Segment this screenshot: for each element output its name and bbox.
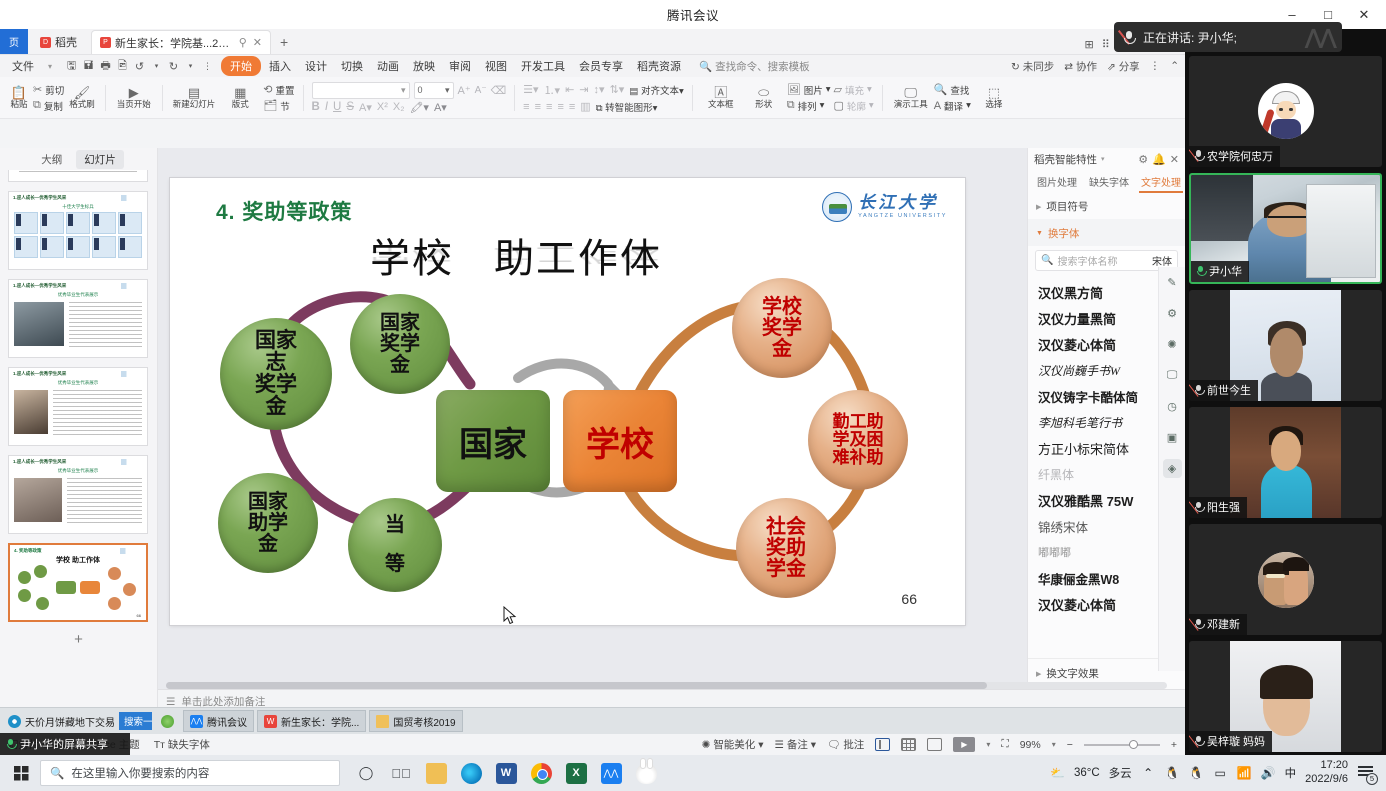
meeting-close-button[interactable]: ✕ (1346, 0, 1382, 29)
diagram-node-orange-3[interactable]: 社会 奖助 学金 (736, 498, 836, 598)
add-slide-button[interactable]: + (8, 631, 149, 648)
participant-tile[interactable]: 吴梓璇 妈妈 (1189, 641, 1382, 752)
play-circle-icon: ▶ (129, 86, 139, 99)
subscript-icon[interactable]: X₂ (393, 101, 405, 113)
screen-share-banner: 尹小华的屏幕共享 (0, 733, 130, 755)
logo-icon (120, 548, 142, 554)
missing-font-label[interactable]: Tᴛ 缺失字体 (154, 737, 210, 752)
section-bullets[interactable]: ▶ 项目符号 (1028, 192, 1185, 219)
italic-button[interactable]: I (325, 101, 328, 113)
menu-animation[interactable]: 动画 (371, 56, 405, 76)
chevron-down-icon[interactable]: ▾ (150, 62, 163, 70)
meeting-title: 腾讯会议 (667, 5, 719, 24)
redo-icon[interactable]: ↻ (167, 60, 180, 73)
logo-icon (121, 195, 143, 201)
close-icon[interactable]: ✕ (1170, 153, 1179, 166)
qq-icon[interactable]: 🐧 (1165, 766, 1180, 781)
shared-screen-taskbar[interactable]: 天价月饼藏地下交易 搜索一下 ⋀⋀ 腾讯会议 W 新生家长：学院... 国贸考核… (0, 707, 1185, 734)
format-painter-button[interactable]: 🖌 格式刷 (67, 86, 97, 109)
participant-tile[interactable]: 前世今生 (1189, 290, 1382, 401)
search-icon: 🔍 (50, 766, 64, 780)
menu-review[interactable]: 审阅 (443, 56, 477, 76)
chevron-down-icon: ▼ (1036, 230, 1043, 237)
clock-icon[interactable]: ◷ (1163, 397, 1182, 416)
fit-to-window-icon[interactable]: ⛶ (1001, 738, 1008, 751)
font-size-input[interactable]: 0▾ (414, 82, 454, 99)
right-icon-strip[interactable]: ✎ ⚙ ✺ 🖵 ◷ ▣ ◈ (1158, 267, 1185, 671)
menu-view[interactable]: 视图 (479, 56, 513, 76)
format-painter-icon: 🖌 (74, 86, 91, 99)
badge-icon[interactable]: ▣ (1163, 428, 1182, 447)
avatar (1258, 83, 1314, 139)
play-slideshow-button[interactable]: ▶ (953, 737, 975, 752)
search-chip[interactable]: 搜索一下 (119, 712, 152, 730)
strikethrough-button[interactable]: S (346, 101, 354, 113)
ribbon-group-font: ▾ 0▾ A⁺ A⁻ ⌫ B I U S A▾ X² X₂ 🖍▾ (308, 78, 511, 118)
shape-button[interactable]: ⬭ 形状 (744, 86, 784, 109)
chevron-down-icon[interactable]: ▾ (42, 60, 58, 73)
folder-icon (376, 715, 389, 728)
clock-date: 2022/9/6 (1305, 773, 1348, 787)
layout-button[interactable]: ▦ 版式 (220, 86, 260, 109)
image-icon: 🖼 (787, 83, 801, 96)
participant-name-badge: 阳生强 (1189, 497, 1247, 518)
line-spacing-icon[interactable]: ↕▾ (594, 83, 605, 96)
justify-icon[interactable]: ≡ (557, 101, 563, 113)
wps-ribbon: 📋 粘贴 ✂剪切 ⧉复制 🖌 格式刷 ▶ 当页开始 (0, 77, 1185, 119)
textbox-button[interactable]: 🄰 文本框 (701, 86, 741, 109)
smart-graphic-button[interactable]: ⧉ 转智能图形▾ (596, 100, 658, 114)
docer-icon: D (40, 37, 51, 48)
participant-name: 邓建新 (1207, 616, 1240, 632)
wps-home-tab[interactable]: 页 (0, 29, 28, 54)
thumbnail-slide-selected[interactable]: 4. 奖助等政策 学校 助工作体 66 (8, 543, 148, 622)
seal-icon (822, 192, 852, 222)
select-button[interactable]: ⬚ 选择 (974, 86, 1014, 109)
speaking-toast: 正在讲话: 尹小华; ⋀⋀ (1114, 22, 1342, 52)
participant-tile[interactable]: 农学院何忠万 (1189, 56, 1382, 167)
chevron-down-icon[interactable]: ▾ (1052, 740, 1056, 749)
tab-outline[interactable]: 大纲 (33, 150, 70, 169)
task-pane-header: 稻壳智能特性 ▾ ⚙ 🔔 ✕ (1028, 148, 1185, 170)
chrome-icon[interactable] (525, 758, 557, 788)
present-tools-icon: 🖵 (904, 86, 917, 99)
share-button[interactable]: ⇗ 分享 (1107, 59, 1140, 74)
heading-right: 助工作体 (494, 237, 662, 281)
menu-insert[interactable]: 插入 (263, 56, 297, 76)
taskbar-item-label: 新生家长：学院... (281, 714, 359, 729)
slide-title: 4. 奖助等政策 (216, 196, 352, 226)
undo-icon[interactable]: ↺ (133, 60, 146, 73)
layout-icon: ▦ (234, 86, 246, 99)
rabbit-icon[interactable] (630, 758, 662, 788)
mic-on-icon (1195, 265, 1206, 278)
slide-thumbnail-pane[interactable]: 大纲 幻灯片 1.迎人成长—优秀学生风采 十佳大学生标兵 (0, 148, 158, 713)
mic-muted-icon (1122, 30, 1136, 44)
chevron-up-icon[interactable]: ⌃ (1141, 766, 1156, 781)
participant-name-badge: 邓建新 (1189, 614, 1247, 635)
normal-view-icon[interactable] (875, 738, 890, 751)
meeting-icon: ⋀⋀ (190, 715, 203, 728)
notes-icon: ☰ (166, 696, 175, 708)
ie-icon (8, 715, 21, 728)
excel-icon[interactable]: X (560, 758, 592, 788)
cortana-icon[interactable]: ◯ (350, 758, 382, 788)
fill-button[interactable]: ▱填充▾ (834, 83, 874, 97)
increase-indent-icon[interactable]: ⇥ (579, 83, 588, 96)
volume-icon[interactable]: 🔊 (1261, 766, 1276, 781)
new-tab-button[interactable]: + (271, 30, 297, 54)
horizontal-scrollbar[interactable] (166, 682, 1167, 689)
slide-heading: 学校助工作体 (370, 226, 662, 284)
logo-icon (121, 459, 143, 465)
system-tray: ⛅ 36°C 多云 ⌃ 🐧 🐧 ▭ 📶 🔊 中 17:20 2022/9/6 5 (1050, 759, 1380, 787)
zoom-slider[interactable] (1084, 744, 1160, 746)
sliders-icon[interactable]: ⚙ (1163, 304, 1182, 323)
participant-tile[interactable]: 邓建新 (1189, 524, 1382, 635)
decrease-indent-icon[interactable]: ⇤ (565, 83, 574, 96)
ribbon-group-clipboard: 📋 粘贴 ✂剪切 ⧉复制 🖌 格式刷 (4, 78, 101, 118)
font-format-row: B I U S A▾ X² X₂ 🖍▾ A▾ (312, 101, 507, 114)
command-search-placeholder: 查找命令、搜索模板 (715, 59, 810, 74)
search-placeholder: 在这里输入你要搜索的内容 (71, 765, 209, 781)
save-icon[interactable]: 🖫 (65, 57, 78, 76)
customize-qat-icon[interactable]: ⋮ (201, 61, 214, 72)
weather-icon[interactable]: ⛅ (1050, 766, 1065, 781)
section-change-font[interactable]: ▼ 换字体 (1028, 219, 1185, 246)
start-icon[interactable] (6, 758, 36, 788)
diagram-node-green-2[interactable]: 国家 奖学 金 (350, 294, 450, 394)
logo-icon (121, 283, 143, 289)
search-icon: 🔍 (1041, 255, 1053, 266)
wps-tab-presentation[interactable]: P 新生家长：学院基...20220905 ⚲ ✕ (91, 30, 271, 54)
paste-button[interactable]: 📋 粘贴 (8, 86, 30, 109)
arrange-button[interactable]: ⧉排列▾ (787, 99, 831, 113)
thumbnail-tabs: 大纲 幻灯片 (0, 148, 157, 170)
shape-icon: ⬭ (758, 86, 769, 99)
section-label: 换字体 (1048, 226, 1080, 241)
chevron-down-icon[interactable]: ▾ (184, 62, 197, 70)
shield-icon[interactable]: ◈ (1163, 459, 1182, 478)
more-icon[interactable]: ⋮ (1150, 60, 1161, 72)
participant-name: 阳生强 (1207, 499, 1240, 515)
reset-button[interactable]: ⟲重置 (263, 83, 294, 97)
task-pane-title: 稻壳智能特性 (1034, 152, 1097, 167)
participant-name-badge: 吴梓璇 妈妈 (1189, 731, 1272, 752)
menu-file[interactable]: 文件 (6, 56, 40, 76)
notification-center-icon[interactable]: 5 (1357, 764, 1376, 783)
taskbar-item-wps[interactable]: W 新生家长：学院... (257, 710, 366, 732)
university-logo: 长江大学 YANGTZE UNIVERSITY (822, 192, 947, 222)
weather-desc: 多云 (1109, 765, 1132, 781)
qq-pink-icon[interactable]: 🐧 (1189, 766, 1204, 781)
menu-slideshow[interactable]: 放映 (407, 56, 441, 76)
participant-rail[interactable]: 农学院何忠万 尹小华 前世今生 (1185, 29, 1386, 755)
outline-icon: ▢ (834, 99, 844, 112)
quick-access-toolbar[interactable]: 🖫 🖬 🖶 🖻 ↺ ▾ ↻ ▾ ⋮ (60, 57, 219, 76)
align-row: ≡ ≡ ≡ ≡ ≡ ▥ ⧉ 转智能图形▾ (523, 100, 684, 114)
cut-button[interactable]: ✂剪切 (33, 83, 64, 97)
participant-tile[interactable]: 阳生强 (1189, 407, 1382, 518)
diagram-node-green-3[interactable]: 国家 助学 金 (218, 473, 318, 573)
print-icon[interactable]: 🖶 (99, 57, 112, 76)
beautify-button[interactable]: ✺ 智能美化 ▾ (702, 737, 764, 752)
font-name-input[interactable]: ▾ (312, 82, 410, 99)
participant-name: 吴梓璇 妈妈 (1207, 733, 1265, 749)
slide-page-number: 66 (901, 591, 917, 607)
task-view-icon[interactable]: ❑⃒ (385, 758, 417, 788)
edge-icon[interactable] (455, 758, 487, 788)
participant-tile-active[interactable]: 尹小华 (1189, 173, 1382, 284)
taskbar-item-label: 腾讯会议 (207, 714, 247, 729)
avatar (1258, 552, 1314, 608)
sync-status[interactable]: ↻ 未同步 (1011, 59, 1054, 74)
thumbnail-slide[interactable]: 1.迎人成长—优秀学生风采 优秀毕业生代表展示 (8, 455, 148, 534)
highlight-icon[interactable]: 🖍▾ (409, 101, 429, 114)
reset-icon: ⟲ (263, 83, 272, 96)
wps-menubar: 文件 ▾ 🖫 🖬 🖶 🖻 ↺ ▾ ↻ ▾ ⋮ 开始 插入 设计 切换 动画 放映… (0, 55, 1185, 77)
heading-left: 学校 (370, 237, 454, 281)
columns-icon[interactable]: ▥ (580, 100, 590, 113)
participant-name: 尹小华 (1209, 263, 1242, 279)
copy-button[interactable]: ⧉复制 (33, 99, 64, 113)
section-icon: 🗂 (263, 99, 277, 112)
new-slide-icon: ▤ (188, 86, 200, 99)
thumbnail-slide[interactable]: 1.迎人成长—优秀学生风采 优秀毕业生代表展示 (8, 367, 148, 446)
split-view-icon[interactable]: ⊞ (1085, 38, 1094, 51)
mic-muted-icon (1193, 501, 1204, 514)
tencent-meeting-logo-icon: ⋀⋀ (1305, 27, 1334, 48)
diagram-node-green-1[interactable]: 国家 志 奖学 金 (220, 318, 332, 430)
pin-icon[interactable]: ⚲ (239, 36, 247, 49)
font-search-placeholder: 搜索字体名称 (1057, 253, 1117, 268)
wps-icon: W (264, 715, 277, 728)
logo-en-text: YANGTZE UNIVERSITY (858, 214, 947, 220)
taskbar-item-label: 天价月饼藏地下交易 (25, 714, 115, 729)
slide-canvas-area[interactable]: 4. 奖助等政策 长江大学 YANGTZE UNIVERSITY 学校助工作体 … (158, 148, 1027, 713)
chevron-down-icon[interactable]: ▾ (1101, 155, 1105, 163)
meeting-icon[interactable]: ⋀⋀ (595, 758, 627, 788)
text-direction-icon[interactable]: ⇅▾ (610, 83, 625, 96)
align-left-icon[interactable]: ≡ (523, 101, 529, 113)
weather-temp: 36°C (1074, 767, 1100, 779)
present-tools-button[interactable]: 🖵 演示工具 (891, 86, 931, 109)
cut-icon: ✂ (33, 83, 42, 96)
close-icon[interactable]: ✕ (253, 36, 262, 49)
superscript-icon[interactable]: X² (377, 101, 388, 113)
search-input[interactable]: 🔍 在这里输入你要搜索的内容 (40, 760, 340, 786)
grid-icon[interactable]: ⠿ (1102, 38, 1110, 51)
paste-icon: 📋 (11, 86, 27, 99)
screen-share-label: 尹小华的屏幕共享 (20, 736, 108, 752)
search-icon: 🔍 (934, 83, 948, 96)
participant-name-badge: 农学院何忠万 (1189, 146, 1280, 167)
diagram-center-green[interactable]: 国家 (436, 390, 550, 492)
thumbnail-list[interactable]: 1.迎人成长—优秀学生风采 十佳大学生标兵 1.迎人成长—优秀学生风采 优秀毕业… (0, 170, 157, 713)
green-circle-icon (161, 715, 174, 728)
ribbon-group-insert: 🄰 文本框 ⬭ 形状 🖼图片▾ ⧉排列▾ ▱填充▾ ▢轮廓▾ (697, 78, 878, 118)
save-as-icon[interactable]: 🖬 (82, 57, 95, 76)
menu-docer[interactable]: 稻壳资源 (631, 56, 687, 76)
copy-icon: ⧉ (33, 99, 41, 112)
windows-taskbar[interactable]: 🔍 在这里输入你要搜索的内容 ◯ ❑⃒ W X ⋀⋀ ⛅ 36°C 多云 ⌃ 🐧… (0, 755, 1386, 791)
mic-muted-icon (1193, 735, 1204, 748)
align-right-icon[interactable]: ≡ (546, 101, 552, 113)
wps-tab-docer[interactable]: D 稻壳 (32, 30, 85, 54)
menu-start[interactable]: 开始 (221, 56, 261, 76)
ribbon-group-slides: ▤ 新建幻灯片 ▦ 版式 ⟲重置 🗂节 (167, 78, 299, 118)
menu-transition[interactable]: 切换 (335, 56, 369, 76)
zoom-level[interactable]: 99% (1020, 739, 1041, 751)
align-center-icon[interactable]: ≡ (535, 101, 541, 113)
tab-slides[interactable]: 幻灯片 (76, 150, 124, 169)
thumbnail-slide[interactable] (8, 170, 148, 182)
font-color-icon[interactable]: A▾ (434, 101, 447, 114)
grow-font-icon[interactable]: A⁺ (458, 84, 471, 97)
mic-muted-icon (1193, 618, 1204, 631)
notes-button[interactable]: ☰ 备注 ▾ (775, 737, 817, 752)
translate-button[interactable]: A翻译▾ (934, 99, 971, 113)
word-icon[interactable]: W (490, 758, 522, 788)
list-row: ☰▾ ⒈▾ ⇤ ⇥ ↕▾ ⇅▾ ▤ 对齐文本▾ (523, 82, 684, 98)
bold-button[interactable]: B (312, 101, 320, 113)
task-pane-tabs: 图片处理 缺失字体 文字处理 ☰ (1028, 170, 1185, 192)
slide-sorter-icon[interactable] (901, 738, 916, 751)
align-text-button[interactable]: ▤ 对齐文本▾ (629, 83, 683, 97)
thumbnail-slide[interactable]: 1.迎人成长—优秀学生风采 十佳大学生标兵 (8, 191, 148, 270)
shrink-font-icon[interactable]: A⁻ (475, 85, 487, 96)
logo-icon (121, 371, 143, 377)
mic-on-icon (5, 738, 16, 751)
mic-muted-icon (1193, 384, 1204, 397)
participant-name: 前世今生 (1207, 382, 1251, 398)
fill-icon: ▱ (834, 83, 842, 96)
translate-icon: A (934, 100, 941, 112)
wps-presentation-window: 页 D 稻壳 P 新生家长：学院基...20220905 ⚲ ✕ + ⊞ ⠿ –… (0, 29, 1185, 755)
taskbar-system-icons: ◯ ❑⃒ W X ⋀⋀ (350, 758, 662, 788)
select-icon: ⬚ (988, 86, 1000, 99)
section-label: 项目符号 (1046, 199, 1088, 214)
start-show-button[interactable]: ▶ 当页开始 (114, 86, 154, 109)
participant-name-badge: 尹小华 (1191, 261, 1249, 282)
outline-button[interactable]: ▢轮廓▾ (834, 99, 874, 113)
wps-tab-label: 新生家长：学院基...20220905 (115, 35, 233, 51)
bullets-icon[interactable]: ☰▾ (523, 83, 538, 96)
menu-developer[interactable]: 开发工具 (515, 56, 571, 76)
command-search[interactable]: 🔍 查找命令、搜索模板 (699, 59, 810, 74)
taskbar-item-meeting[interactable]: ⋀⋀ 腾讯会议 (183, 710, 254, 732)
image-button[interactable]: 🖼图片▾ (787, 83, 831, 97)
thumbnail-slide[interactable]: 1.迎人成长—优秀学生风采 优秀毕业生代表展示 (8, 279, 148, 358)
collapse-ribbon-icon[interactable]: ⌃ (1170, 60, 1179, 72)
diagram-node-orange-1[interactable]: 学校 奖学 金 (732, 278, 832, 378)
participant-name-badge: 前世今生 (1189, 380, 1258, 401)
bulb-icon[interactable]: ✺ (1163, 335, 1182, 354)
clock[interactable]: 17:20 2022/9/6 (1305, 759, 1348, 787)
arrange-icon: ⧉ (787, 99, 795, 112)
find-button[interactable]: 🔍查找 (934, 83, 971, 97)
font-search-input[interactable]: 🔍 搜索字体名称 宋体 (1035, 250, 1178, 271)
ribbon-group-paragraph: ☰▾ ⒈▾ ⇤ ⇥ ↕▾ ⇅▾ ▤ 对齐文本▾ ≡ ≡ ≡ ≡ ≡ (519, 78, 688, 118)
wps-tabbar: 页 D 稻壳 P 新生家长：学院基...20220905 ⚲ ✕ + ⊞ ⠿ –… (0, 29, 1185, 55)
clear-format-icon[interactable]: ⌫ (491, 84, 507, 97)
speaking-toast-label: 正在讲话: 尹小华; (1143, 29, 1237, 46)
bell-icon[interactable]: 🔔 (1152, 153, 1166, 166)
font-search-value: 宋体 (1152, 253, 1172, 268)
chevron-right-icon: ▶ (1036, 670, 1041, 678)
print-preview-icon[interactable]: 🖻 (116, 57, 129, 76)
logo-cn-text: 长江大学 (858, 194, 947, 211)
new-slide-button[interactable]: ▤ 新建幻灯片 (171, 86, 218, 109)
text-effects-icon[interactable]: A▾ (359, 101, 372, 114)
ime-indicator[interactable]: 中 (1285, 765, 1297, 781)
reading-view-icon[interactable] (927, 738, 942, 751)
folder-icon[interactable] (420, 758, 452, 788)
underline-button[interactable]: U (333, 101, 341, 113)
zoom-in-button[interactable]: + (1171, 739, 1177, 751)
distribute-icon[interactable]: ≡ (569, 101, 575, 113)
wps-status-bar: 幻灯片 66 / 68 Office 主题 Tᴛ 缺失字体 ✺ 智能美化 ▾ ☰… (0, 733, 1185, 755)
taskbar-item-label: 国贸考核2019 (393, 714, 455, 729)
ribbon-group-show: ▶ 当页开始 (110, 78, 158, 118)
screen-icon[interactable]: 🖵 (1163, 366, 1182, 385)
tab-text-processing[interactable]: 文字处理 (1136, 172, 1185, 191)
diagram-node-green-4[interactable]: 当 等 (348, 498, 442, 592)
current-slide[interactable]: 4. 奖助等政策 长江大学 YANGTZE UNIVERSITY 学校助工作体 … (170, 178, 965, 625)
gear-icon[interactable]: ⚙ (1138, 153, 1148, 166)
collaborate-button[interactable]: ⇄ 协作 (1064, 59, 1097, 74)
clock-time: 17:20 (1320, 759, 1348, 773)
participant-name: 农学院何忠万 (1207, 148, 1273, 164)
chevron-right-icon: ▶ (1036, 203, 1041, 211)
ppt-icon: P (100, 37, 111, 48)
search-icon: 🔍 (699, 60, 712, 73)
textbox-icon: 🄰 (714, 86, 727, 99)
tab-image-processing[interactable]: 图片处理 (1032, 172, 1082, 191)
wps-menubar-right: ↻ 未同步 ⇄ 协作 ⇗ 分享 ⋮ ⌃ (1011, 59, 1179, 74)
diagram-center-orange[interactable]: 学校 (563, 390, 677, 492)
ribbon-group-tools: 🖵 演示工具 🔍查找 A翻译▾ ⬚ 选择 (887, 78, 1018, 118)
tab-missing-font[interactable]: 缺失字体 (1084, 172, 1134, 191)
mouse-cursor (503, 606, 517, 626)
status-bar-right: ✺ 智能美化 ▾ ☰ 备注 ▾ 🗨 批注 ▶ ▾ ⛶ 99% ▾ − + (702, 737, 1177, 752)
feather-icon[interactable]: ✎ (1163, 273, 1182, 292)
chevron-down-icon[interactable]: ▾ (986, 740, 990, 749)
comments-button[interactable]: 🗨 批注 (827, 737, 864, 752)
taskbar-item-folder[interactable]: 国贸考核2019 (369, 710, 462, 732)
wps-tab-label: 稻壳 (55, 34, 77, 50)
taskbar-green-item[interactable] (155, 710, 180, 732)
menu-member[interactable]: 会员专享 (573, 56, 629, 76)
section-button[interactable]: 🗂节 (263, 99, 294, 113)
mic-muted-icon (1193, 149, 1204, 162)
diagram-node-orange-2[interactable]: 勤工助 学及困 难补助 (808, 390, 908, 490)
taskbar-ie-item[interactable]: 天价月饼藏地下交易 搜索一下 (2, 710, 152, 732)
wifi-icon[interactable]: 📶 (1237, 766, 1252, 781)
section-label: 换文字效果 (1046, 666, 1099, 681)
zoom-out-button[interactable]: − (1067, 739, 1073, 751)
wps-body: 大纲 幻灯片 1.迎人成长—优秀学生风采 十佳大学生标兵 (0, 148, 1185, 713)
menu-design[interactable]: 设计 (299, 56, 333, 76)
battery-icon[interactable]: ▭ (1213, 766, 1228, 781)
numbering-icon[interactable]: ⒈▾ (544, 82, 561, 98)
